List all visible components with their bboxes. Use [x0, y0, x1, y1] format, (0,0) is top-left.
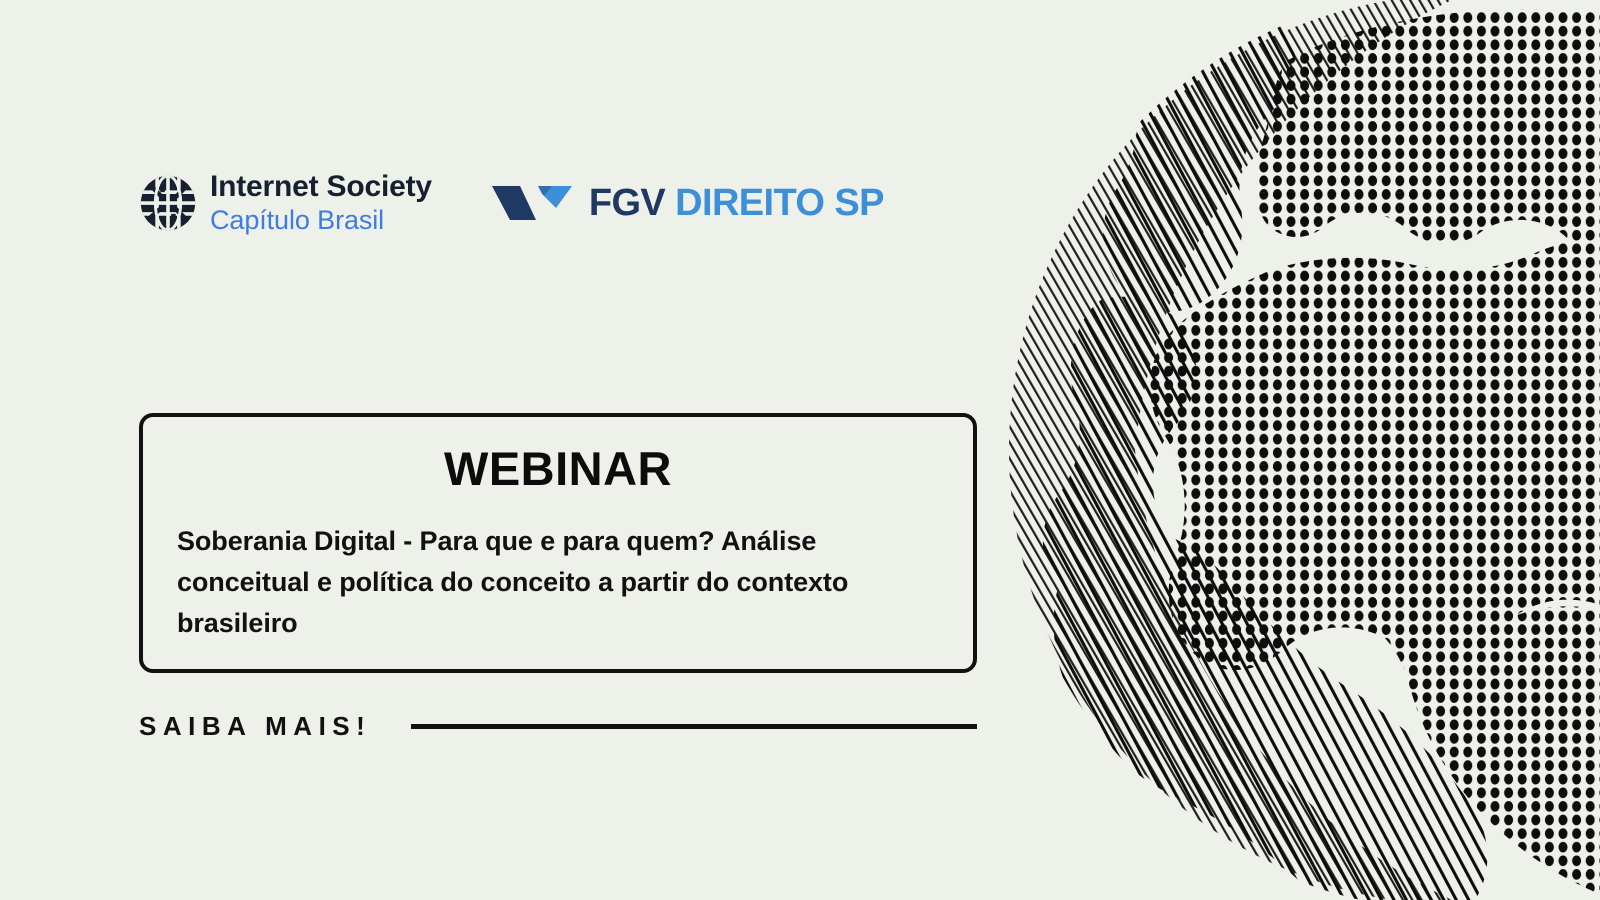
webinar-heading: WEBINAR: [177, 443, 939, 495]
fgv-chevron-icon: [490, 182, 574, 224]
globe-landmass-limb: [985, 0, 1600, 900]
globe-terminator-shading: [1009, 0, 1465, 900]
fgv-wordmark: FGV DIREITO SP: [589, 182, 884, 225]
fgv-direito-sp-logo: FGV DIREITO SP: [490, 182, 884, 225]
fgv-word-primary: FGV: [589, 182, 665, 224]
learn-more-label[interactable]: SAIBA MAIS!: [139, 711, 371, 742]
learn-more-row[interactable]: SAIBA MAIS!: [139, 711, 977, 742]
halftone-globe-graphic: [985, 0, 1600, 900]
logo-row: Internet Society Capítulo Brasil FGV DIR…: [139, 172, 884, 234]
internet-society-globe-icon: [139, 174, 197, 232]
promo-banner: Internet Society Capítulo Brasil FGV DIR…: [0, 0, 1600, 900]
globe-landmass-front: [985, 0, 1600, 900]
webinar-card: WEBINAR Soberania Digital - Para que e p…: [139, 413, 977, 673]
fgv-word-secondary: DIREITO SP: [675, 182, 884, 224]
isoc-name: Internet Society: [210, 172, 432, 202]
learn-more-rule: [411, 724, 977, 729]
isoc-chapter: Capítulo Brasil: [210, 207, 432, 234]
internet-society-wordmark: Internet Society Capítulo Brasil: [210, 172, 432, 234]
internet-society-logo: Internet Society Capítulo Brasil: [139, 172, 432, 234]
webinar-subtitle: Soberania Digital - Para que e para quem…: [177, 521, 939, 644]
